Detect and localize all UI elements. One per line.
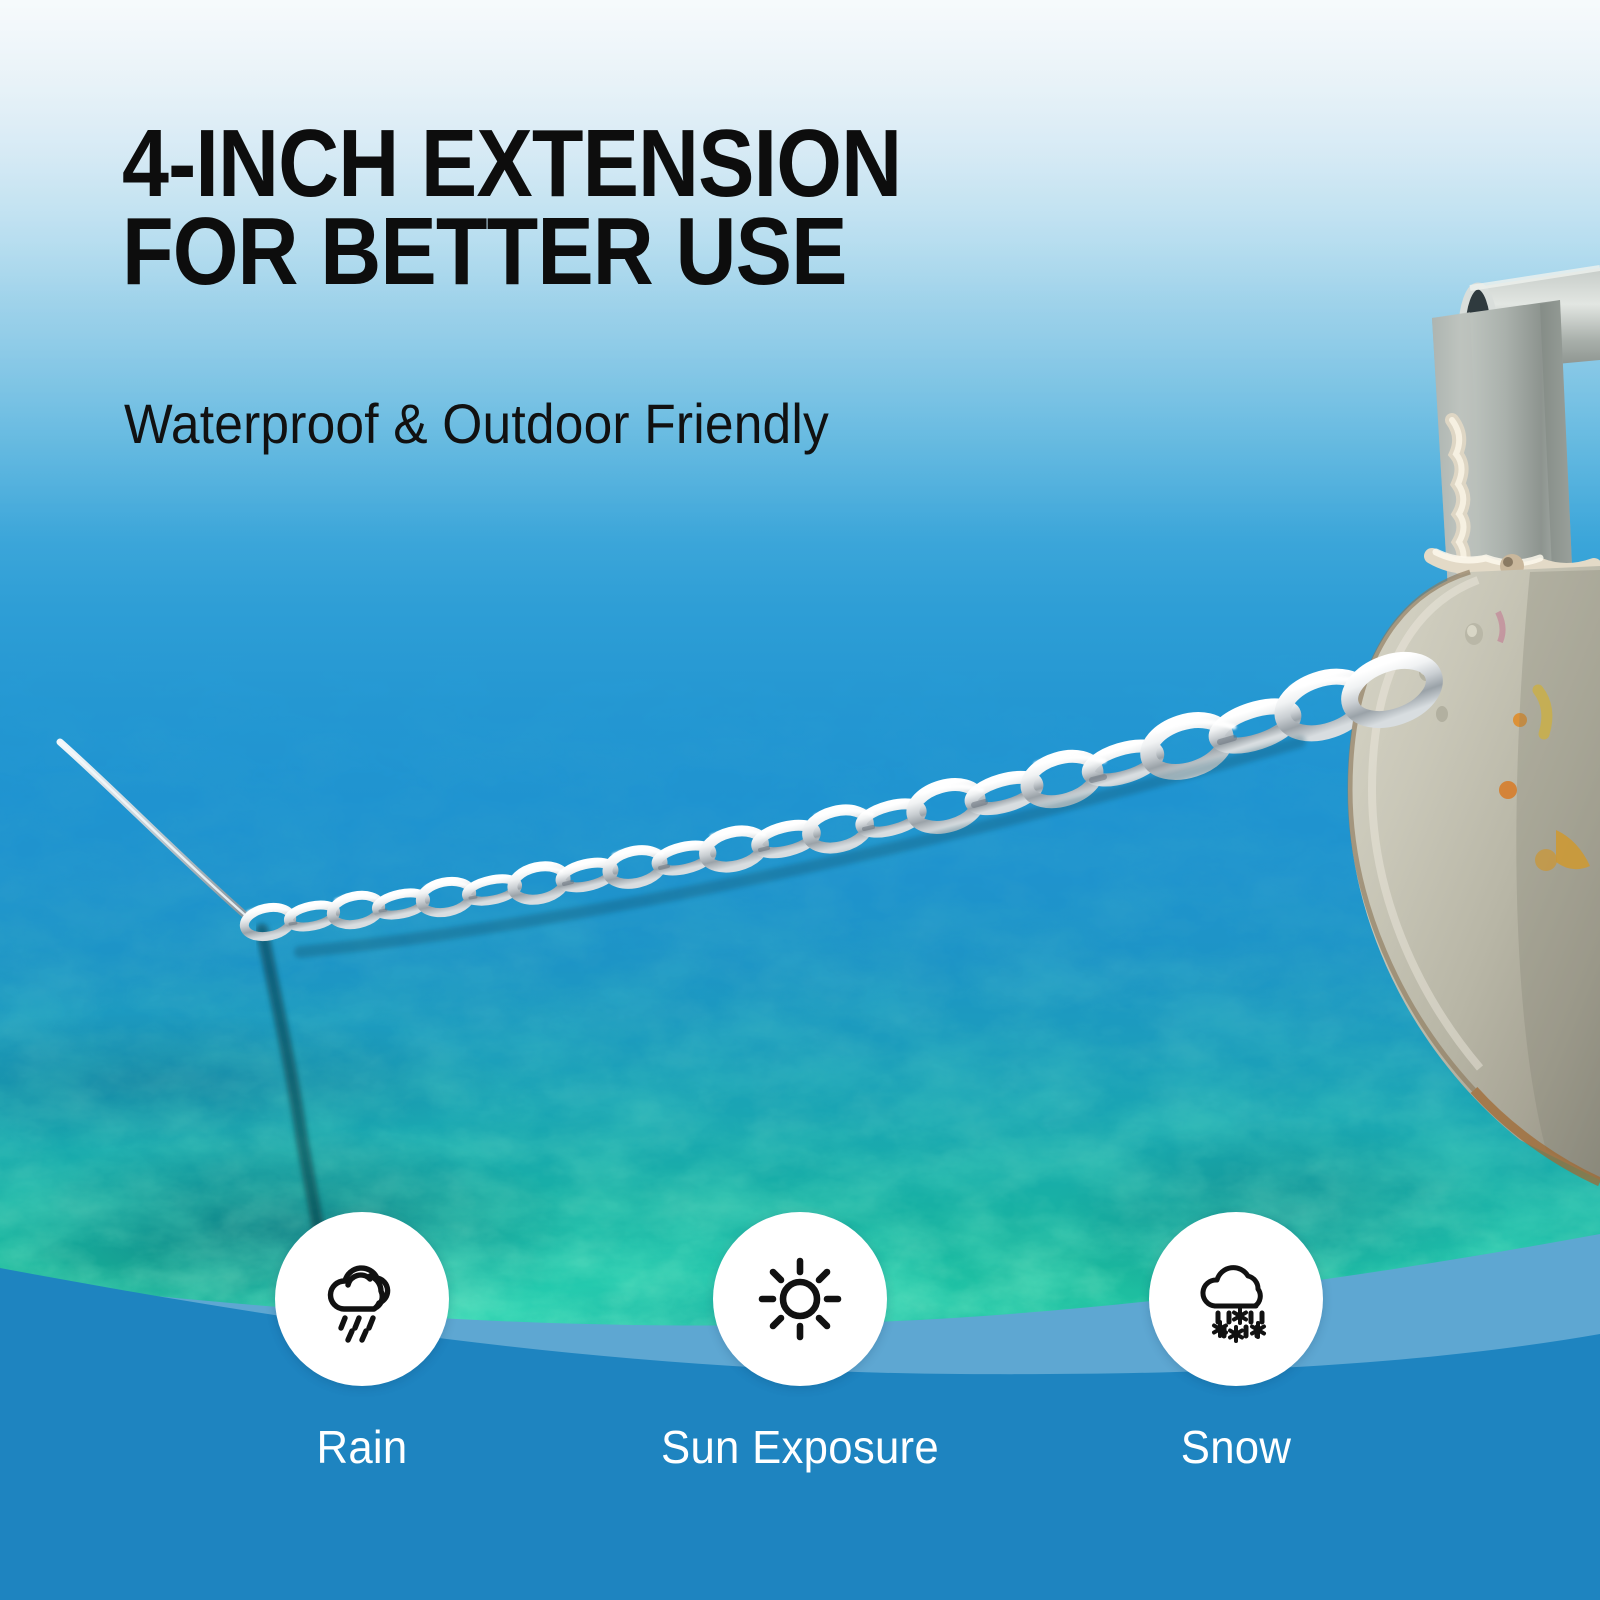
feature-rain[interactable]: Rain [212,1212,512,1474]
cloud-rain-icon [314,1251,410,1347]
feature-list: Rain Sun Exposure [0,1200,1600,1600]
feature-label-snow: Snow [1094,1420,1379,1474]
badge-rain [275,1212,449,1386]
feature-label-rain: Rain [220,1420,505,1474]
feature-sun[interactable]: Sun Exposure [650,1212,950,1474]
product-marketing-image: 4-INCH EXTENSION FOR BETTER USE Waterpro… [0,0,1600,1600]
feature-snow[interactable]: Snow [1086,1212,1386,1474]
badge-snow [1149,1212,1323,1386]
sun-icon [752,1251,848,1347]
feature-label-sun: Sun Exposure [658,1420,943,1474]
subheadline: Waterproof & Outdoor Friendly [124,396,829,452]
headline: 4-INCH EXTENSION FOR BETTER USE [122,120,984,297]
cloud-snow-icon [1188,1251,1284,1347]
badge-sun [713,1212,887,1386]
